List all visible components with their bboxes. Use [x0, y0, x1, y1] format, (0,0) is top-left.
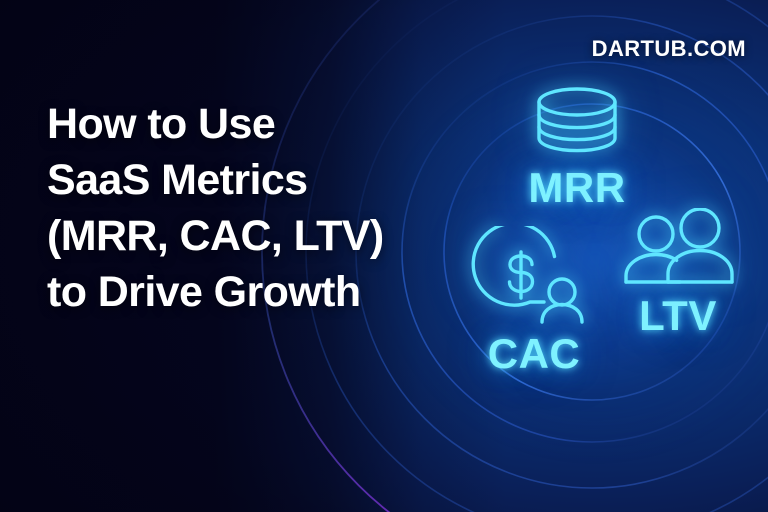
two-people-icon [618, 208, 738, 291]
metric-ltv-label: LTV [618, 293, 738, 339]
metric-mrr: MRR [498, 86, 656, 211]
metric-cac: CAC [468, 226, 600, 377]
title-line-3: (MRR, CAC, LTV) [47, 208, 447, 264]
brand-watermark: DARTUB.COM [592, 36, 746, 62]
thumbnail-canvas: DARTUB.COM How to Use SaaS Metrics (MRR,… [0, 0, 768, 512]
metric-mrr-label: MRR [498, 165, 656, 211]
database-stack-icon [498, 86, 656, 159]
metric-cac-label: CAC [468, 331, 600, 377]
title-line-1: How to Use [47, 96, 447, 152]
title-line-2: SaaS Metrics [47, 152, 447, 208]
page-title: How to Use SaaS Metrics (MRR, CAC, LTV) … [47, 96, 447, 320]
title-line-4: to Drive Growth [47, 264, 447, 320]
dollar-circle-person-icon [468, 226, 600, 329]
metric-ltv: LTV [618, 208, 738, 339]
